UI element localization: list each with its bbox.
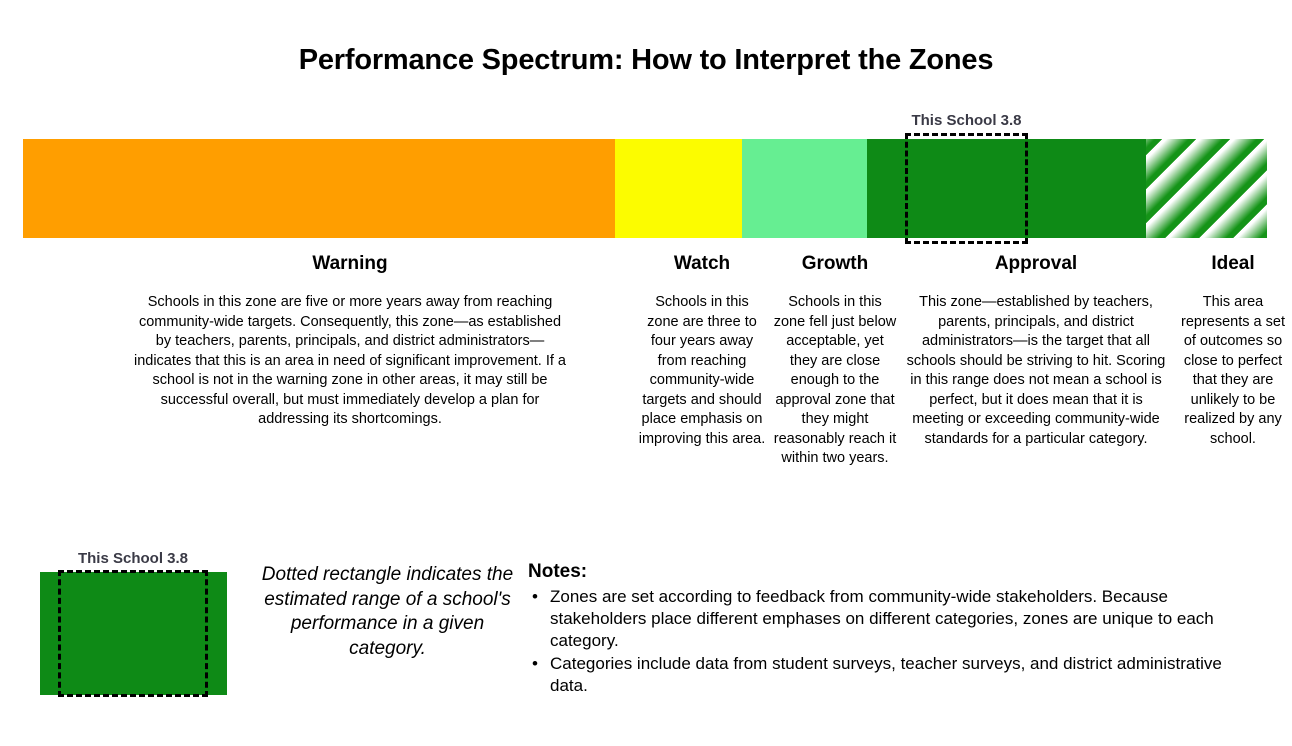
- zone-label-growth: Growth: [771, 252, 899, 276]
- zone-description-growth: Schools in this zone fell just below acc…: [771, 293, 899, 469]
- notes-item-text: Zones are set according to feedback from…: [550, 587, 1214, 650]
- zone-label-ideal: Ideal: [1176, 252, 1290, 276]
- zone-column-approval: Approval This zone—established by teache…: [905, 252, 1167, 449]
- zone-label-approval: Approval: [905, 252, 1167, 276]
- notes-list-item: • Categories include data from student s…: [528, 653, 1228, 697]
- school-range-marker: [905, 133, 1028, 244]
- zone-description-ideal: This area represents a set of outcomes s…: [1176, 293, 1290, 449]
- zone-label-warning: Warning: [130, 252, 570, 276]
- page-title: Performance Spectrum: How to Interpret t…: [0, 44, 1292, 77]
- legend-caption: Dotted rectangle indicates the estimated…: [255, 563, 520, 661]
- spectrum-zone-warning: [23, 139, 615, 238]
- notes-title: Notes:: [528, 561, 1228, 583]
- spectrum-zone-growth: [742, 139, 867, 238]
- zone-column-growth: Growth Schools in this zone fell just be…: [771, 252, 899, 469]
- zone-description-approval: This zone—established by teachers, paren…: [905, 293, 1167, 449]
- bullet-icon: •: [532, 653, 538, 675]
- zone-label-watch: Watch: [638, 252, 766, 276]
- school-marker-label: This School 3.8: [905, 112, 1028, 129]
- zone-column-watch: Watch Schools in this zone are three to …: [638, 252, 766, 449]
- notes-section: Notes: • Zones are set according to feed…: [528, 561, 1228, 698]
- notes-list: • Zones are set according to feedback fr…: [528, 586, 1228, 697]
- zone-description-watch: Schools in this zone are three to four y…: [638, 293, 766, 449]
- legend-marker-label: This School 3.8: [58, 550, 208, 567]
- bullet-icon: •: [532, 586, 538, 608]
- notes-list-item: • Zones are set according to feedback fr…: [528, 586, 1228, 652]
- notes-item-text: Categories include data from student sur…: [550, 654, 1222, 695]
- zone-column-warning: Warning Schools in this zone are five or…: [130, 252, 570, 430]
- spectrum-zone-ideal: [1146, 139, 1267, 238]
- legend-dashed-rectangle: [58, 570, 208, 697]
- zone-description-warning: Schools in this zone are five or more ye…: [130, 293, 570, 430]
- spectrum-zone-watch: [615, 139, 742, 238]
- performance-spectrum-bar: [23, 139, 1267, 238]
- zone-column-ideal: Ideal This area represents a set of outc…: [1176, 252, 1290, 449]
- zone-description-columns: Warning Schools in this zone are five or…: [23, 252, 1267, 532]
